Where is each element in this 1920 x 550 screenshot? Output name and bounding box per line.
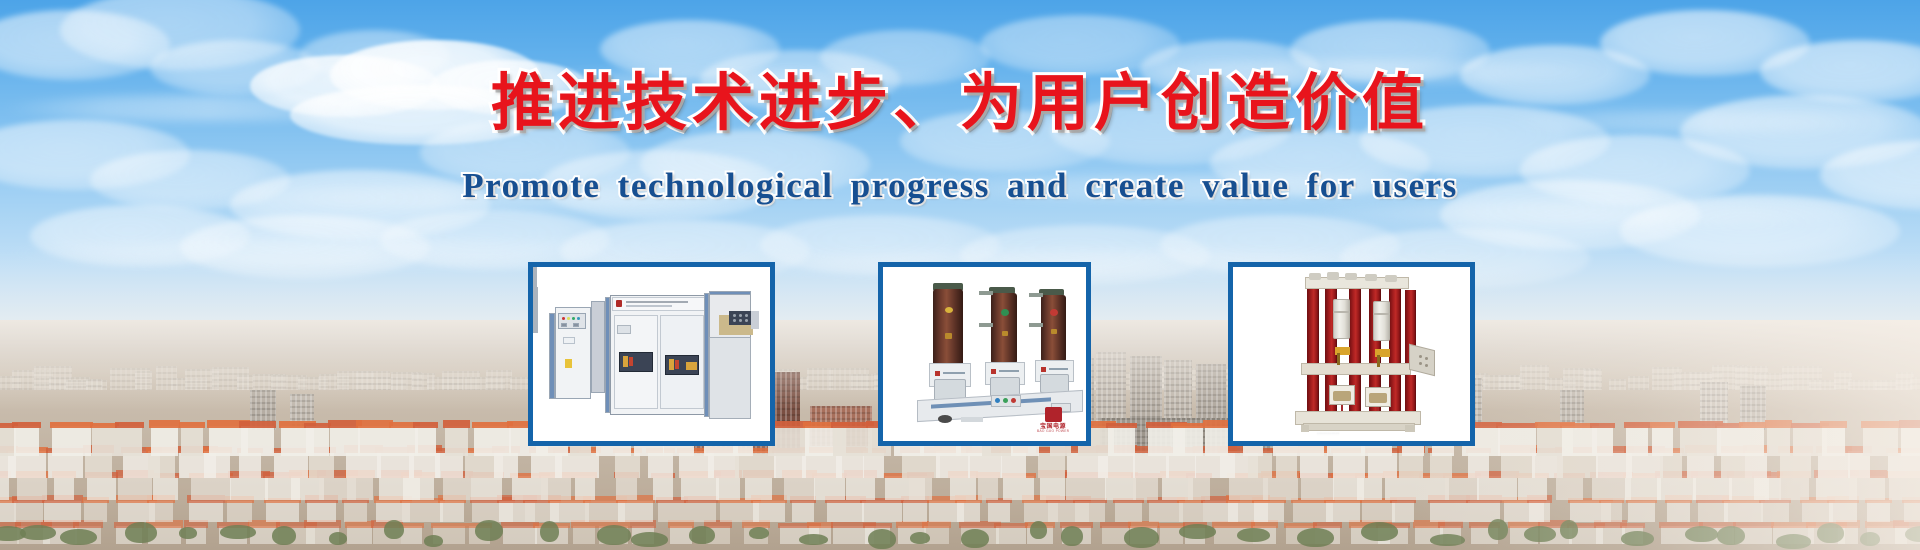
city-house bbox=[541, 476, 571, 500]
city-house bbox=[1075, 501, 1105, 522]
city-house bbox=[618, 501, 653, 522]
house-roof bbox=[994, 523, 1028, 528]
city-house bbox=[153, 476, 178, 500]
city-house bbox=[862, 501, 902, 522]
city-house bbox=[1326, 501, 1360, 522]
tree-canopy bbox=[540, 521, 559, 542]
city-house bbox=[14, 501, 43, 522]
subtitle-container: Promote technological progress and creat… bbox=[0, 166, 1920, 206]
city-house bbox=[118, 476, 152, 500]
tree-canopy bbox=[689, 526, 715, 544]
watermark-logo-2: 宝国电源 BAO GUO POWER bbox=[1030, 407, 1076, 433]
city-house bbox=[1115, 501, 1142, 522]
city-house bbox=[1362, 501, 1395, 522]
watermark-seal-icon bbox=[1045, 407, 1062, 422]
city-house bbox=[827, 501, 864, 522]
city-house bbox=[347, 476, 373, 500]
city-house bbox=[996, 526, 1026, 544]
city-house bbox=[227, 501, 252, 522]
product-image-2: 宝国电源 BAO GUO POWER bbox=[883, 267, 1086, 441]
city-house bbox=[978, 476, 998, 500]
subtitle-english: Promote technological progress and creat… bbox=[462, 166, 1457, 206]
city-house bbox=[403, 476, 434, 500]
tree-canopy bbox=[749, 527, 769, 539]
tree-canopy bbox=[799, 534, 828, 545]
city-house bbox=[573, 526, 595, 544]
tree-canopy bbox=[1030, 521, 1047, 539]
city-house bbox=[54, 476, 74, 500]
city-house bbox=[347, 526, 372, 544]
city-house bbox=[17, 476, 47, 500]
tree-canopy bbox=[1361, 522, 1398, 541]
house-roof bbox=[922, 521, 951, 528]
tree-canopy bbox=[868, 529, 896, 549]
city-house bbox=[149, 501, 173, 522]
city-house bbox=[988, 501, 1010, 522]
product-panel-2[interactable]: 宝国电源 BAO GUO POWER bbox=[878, 262, 1091, 446]
city-house bbox=[1105, 476, 1136, 500]
headline-chinese: 推进技术进步、为用户创造价值 bbox=[491, 52, 1429, 142]
city-house bbox=[616, 476, 637, 500]
city-house bbox=[653, 476, 673, 500]
city-house bbox=[189, 501, 223, 522]
city-house bbox=[658, 501, 686, 522]
city-house bbox=[1066, 476, 1106, 500]
tree-canopy bbox=[329, 532, 347, 545]
city-house bbox=[440, 501, 464, 522]
tree-canopy bbox=[20, 525, 56, 540]
city-house bbox=[575, 476, 595, 500]
tree-canopy bbox=[220, 525, 256, 539]
city-house bbox=[84, 501, 107, 522]
city-house bbox=[0, 476, 9, 500]
city-house bbox=[1254, 501, 1284, 522]
city-house bbox=[44, 501, 81, 522]
city-house bbox=[950, 476, 976, 500]
city-house bbox=[344, 501, 367, 522]
tree-canopy bbox=[1124, 527, 1159, 548]
tree-canopy bbox=[384, 520, 404, 539]
city-house bbox=[1179, 501, 1203, 522]
city-house bbox=[307, 501, 336, 522]
city-house bbox=[957, 501, 980, 522]
tree-canopy bbox=[60, 529, 97, 545]
city-house bbox=[1357, 476, 1382, 500]
city-house bbox=[443, 476, 471, 500]
product-panel-3[interactable]: ··········· bbox=[1228, 262, 1475, 446]
product-image-3: ··········· bbox=[1233, 267, 1470, 441]
city-house bbox=[1301, 476, 1334, 500]
city-house bbox=[1003, 476, 1034, 500]
house-roof bbox=[863, 523, 892, 528]
city-house bbox=[846, 476, 875, 500]
house-roof bbox=[1100, 522, 1131, 528]
tree-canopy bbox=[1179, 524, 1216, 539]
tree-canopy bbox=[272, 526, 296, 545]
city-house bbox=[1133, 476, 1158, 500]
house-roof bbox=[431, 523, 467, 528]
city-house bbox=[550, 501, 589, 522]
city-house bbox=[814, 476, 845, 500]
product-panel-1[interactable] bbox=[528, 262, 775, 446]
tree-canopy bbox=[424, 535, 443, 547]
product-image-1 bbox=[533, 267, 770, 441]
watermark-subtext: BAO GUO POWER bbox=[1030, 430, 1076, 433]
city-house bbox=[87, 476, 116, 500]
city-house bbox=[230, 476, 268, 500]
house-roof bbox=[807, 522, 833, 528]
city-house bbox=[266, 501, 299, 522]
city-house bbox=[909, 476, 932, 500]
city-house bbox=[191, 476, 231, 500]
city-house bbox=[745, 476, 772, 500]
city-house bbox=[402, 501, 443, 522]
product-caption-3: ··········· bbox=[1317, 431, 1340, 437]
city-house bbox=[784, 476, 815, 500]
tree-canopy bbox=[631, 532, 668, 547]
city-house bbox=[716, 476, 740, 500]
tree-canopy bbox=[1061, 526, 1083, 546]
tree-canopy bbox=[597, 525, 631, 545]
tree-canopy bbox=[1237, 528, 1270, 542]
tree-canopy bbox=[1297, 528, 1334, 547]
tree-canopy bbox=[125, 522, 157, 543]
city-house bbox=[401, 526, 422, 544]
city-house bbox=[686, 501, 716, 522]
house-roof bbox=[345, 521, 374, 528]
city-house bbox=[503, 526, 537, 544]
city-house bbox=[681, 476, 719, 500]
tree-canopy bbox=[910, 532, 930, 544]
tree-canopy bbox=[961, 529, 989, 548]
city-house bbox=[1149, 501, 1183, 522]
city-house bbox=[471, 476, 502, 500]
city-house bbox=[753, 501, 785, 522]
product-panels: 宝国电源 BAO GUO POWER bbox=[0, 262, 1920, 452]
city-house bbox=[1188, 476, 1210, 500]
city-house bbox=[792, 501, 814, 522]
tree-canopy bbox=[179, 527, 197, 539]
city-house bbox=[903, 501, 927, 522]
headline-container: 推进技术进步、为用户创造价值 bbox=[0, 52, 1920, 142]
house-roof bbox=[1212, 521, 1255, 528]
promo-banner: 推进技术进步、为用户创造价值 Promote technological pro… bbox=[0, 0, 1920, 550]
city-house bbox=[1263, 476, 1298, 500]
city-house bbox=[1040, 476, 1065, 500]
tree-canopy bbox=[475, 520, 503, 541]
